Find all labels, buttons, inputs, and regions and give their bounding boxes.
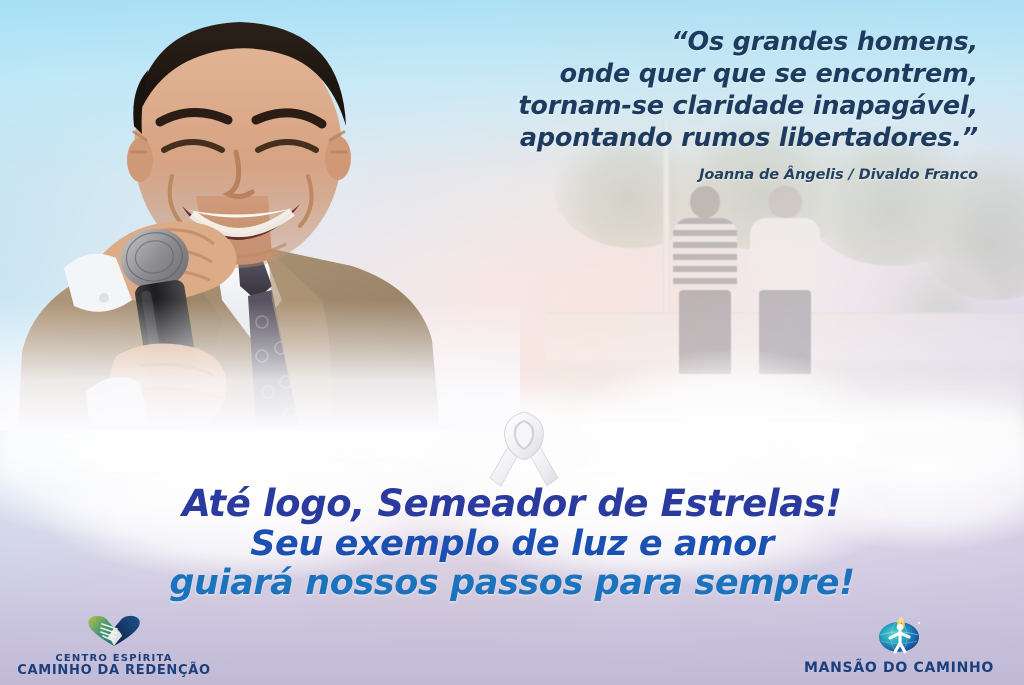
- quote-block: “Os grandes homens, onde quer que se enc…: [418, 26, 978, 183]
- logo-centro-espirita: CENTRO ESPÍRITA CAMINHO DA REDENÇÃO: [14, 615, 214, 679]
- headline-line-1: Até logo, Semeador de Estrelas!: [0, 484, 1024, 524]
- white-mourning-ribbon-icon: [489, 408, 559, 490]
- headline-line-2: Seu exemplo de luz e amor: [0, 525, 1024, 563]
- headline-block: Até logo, Semeador de Estrelas! Seu exem…: [0, 484, 1024, 602]
- memorial-poster: “Os grandes homens, onde quer que se enc…: [0, 0, 1024, 685]
- background-person-white-shirt: [750, 186, 820, 374]
- logo-left-line-2: CAMINHO DA REDENÇÃO: [14, 664, 214, 679]
- quote-line-4: apontando rumos libertadores.”: [418, 122, 978, 154]
- quote-author: Joanna de Ângelis / Divaldo Franco: [418, 167, 978, 183]
- background-person-striped-shirt: [673, 186, 737, 374]
- logo-left-text: CENTRO ESPÍRITA CAMINHO DA REDENÇÃO: [14, 653, 214, 679]
- logo-mansao-do-caminho: MANSÃO DO CAMINHO: [784, 613, 1014, 677]
- globe-figure-flame-icon: [784, 613, 1014, 659]
- headline-line-3: guiará nossos passos para sempre!: [0, 564, 1024, 602]
- hands-heart-icon: [14, 615, 214, 651]
- logo-right-text: MANSÃO DO CAMINHO: [784, 661, 1014, 677]
- logo-right-line-1: MANSÃO DO CAMINHO: [784, 661, 1014, 677]
- quote-line-3: tornam-se claridade inapagável,: [418, 90, 978, 122]
- quote-line-2: onde quer que se encontrem,: [418, 58, 978, 90]
- quote-line-1: “Os grandes homens,: [418, 26, 978, 58]
